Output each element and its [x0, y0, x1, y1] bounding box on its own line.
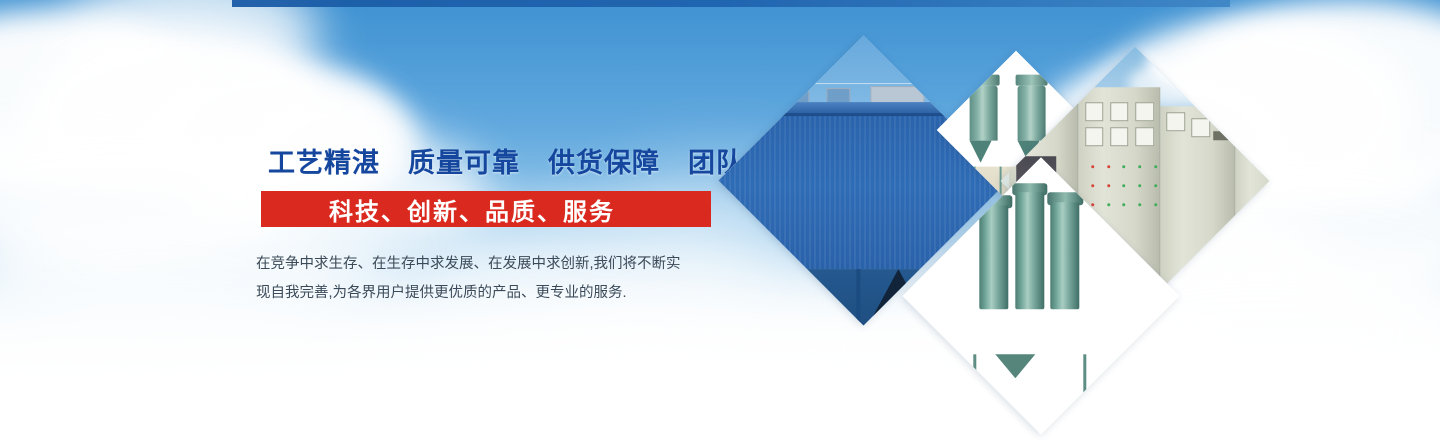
panel-meter: [1085, 128, 1104, 147]
indicator-lamp: [1122, 203, 1125, 206]
top-navigation-strip: [232, 0, 1230, 7]
indicator-lamp: [1107, 184, 1110, 187]
indicator-lamp: [1154, 203, 1157, 206]
panel-meter: [1135, 128, 1154, 147]
cyclone-tube: [1015, 193, 1044, 309]
hero-banner: 工艺精湛 质量可靠 供货保障 团队合作 科技、创新、品质、服务 在竞争中求生存、…: [0, 0, 1440, 440]
indicator-lamp: [1091, 203, 1094, 206]
banner-text-block: 工艺精湛 质量可靠 供货保障 团队合作 科技、创新、品质、服务 在竞争中求生存、…: [268, 148, 748, 308]
cyclone-cap: [968, 75, 999, 86]
slogan-bar: 科技、创新、品质、服务: [261, 191, 711, 227]
cabinet-vent: [1213, 131, 1241, 140]
panel-meter: [1135, 103, 1154, 122]
banner-headline: 工艺精湛 质量可靠 供货保障 团队合作: [268, 148, 748, 179]
roof-equipment: [870, 86, 924, 103]
indicator-lamp: [1107, 165, 1110, 168]
roof-railing: [742, 82, 986, 83]
cloud-shape: [0, 10, 210, 195]
slogan-bar-text: 科技、创新、品质、服务: [261, 192, 615, 227]
paragraph-line-2: 现自我完善,为各界用户提供更优质的产品、更专业的服务.: [256, 279, 736, 308]
panel-meter: [1166, 112, 1185, 131]
indicator-lamp: [1138, 184, 1141, 187]
cyclone-cone: [970, 141, 992, 163]
indicator-lamp: [1138, 165, 1141, 168]
indicator-lamp: [1091, 165, 1094, 168]
cyclone-tube: [980, 205, 1009, 308]
support-leg: [857, 268, 861, 325]
panel-meter: [1085, 103, 1104, 122]
paragraph-line-1: 在竞争中求生存、在生存中求发展、在发展中求创新,我们将不断实: [256, 250, 736, 279]
cyclone-barrel: [970, 86, 998, 141]
roof-equipment: [742, 84, 772, 103]
hopper-cone: [996, 354, 1036, 378]
panel-meter: [1191, 118, 1210, 137]
cloud-shape: [60, 0, 320, 100]
indicator-lamp: [1154, 165, 1157, 168]
cyclone-barrel: [1018, 86, 1046, 141]
banner-paragraph: 在竞争中求生存、在生存中求发展、在发展中求创新,我们将不断实 现自我完善,为各界…: [256, 250, 736, 308]
product-diamond-collage: [755, 48, 1185, 388]
collection-hopper: [970, 309, 1090, 354]
cyclone-cap: [1016, 75, 1047, 86]
hopper-shadow: [748, 268, 804, 320]
roof-equipment: [786, 87, 810, 102]
panel-meter: [1110, 103, 1129, 122]
panel-meter: [1110, 128, 1129, 147]
cyclone-tube: [1051, 202, 1080, 309]
indicator-lamp: [1138, 203, 1141, 206]
indicator-lamp: [1107, 203, 1110, 206]
indicator-lamp: [1154, 184, 1157, 187]
roof-equipment: [826, 87, 850, 102]
roof-pipe: [772, 45, 774, 92]
indicator-lamp: [1091, 184, 1094, 187]
